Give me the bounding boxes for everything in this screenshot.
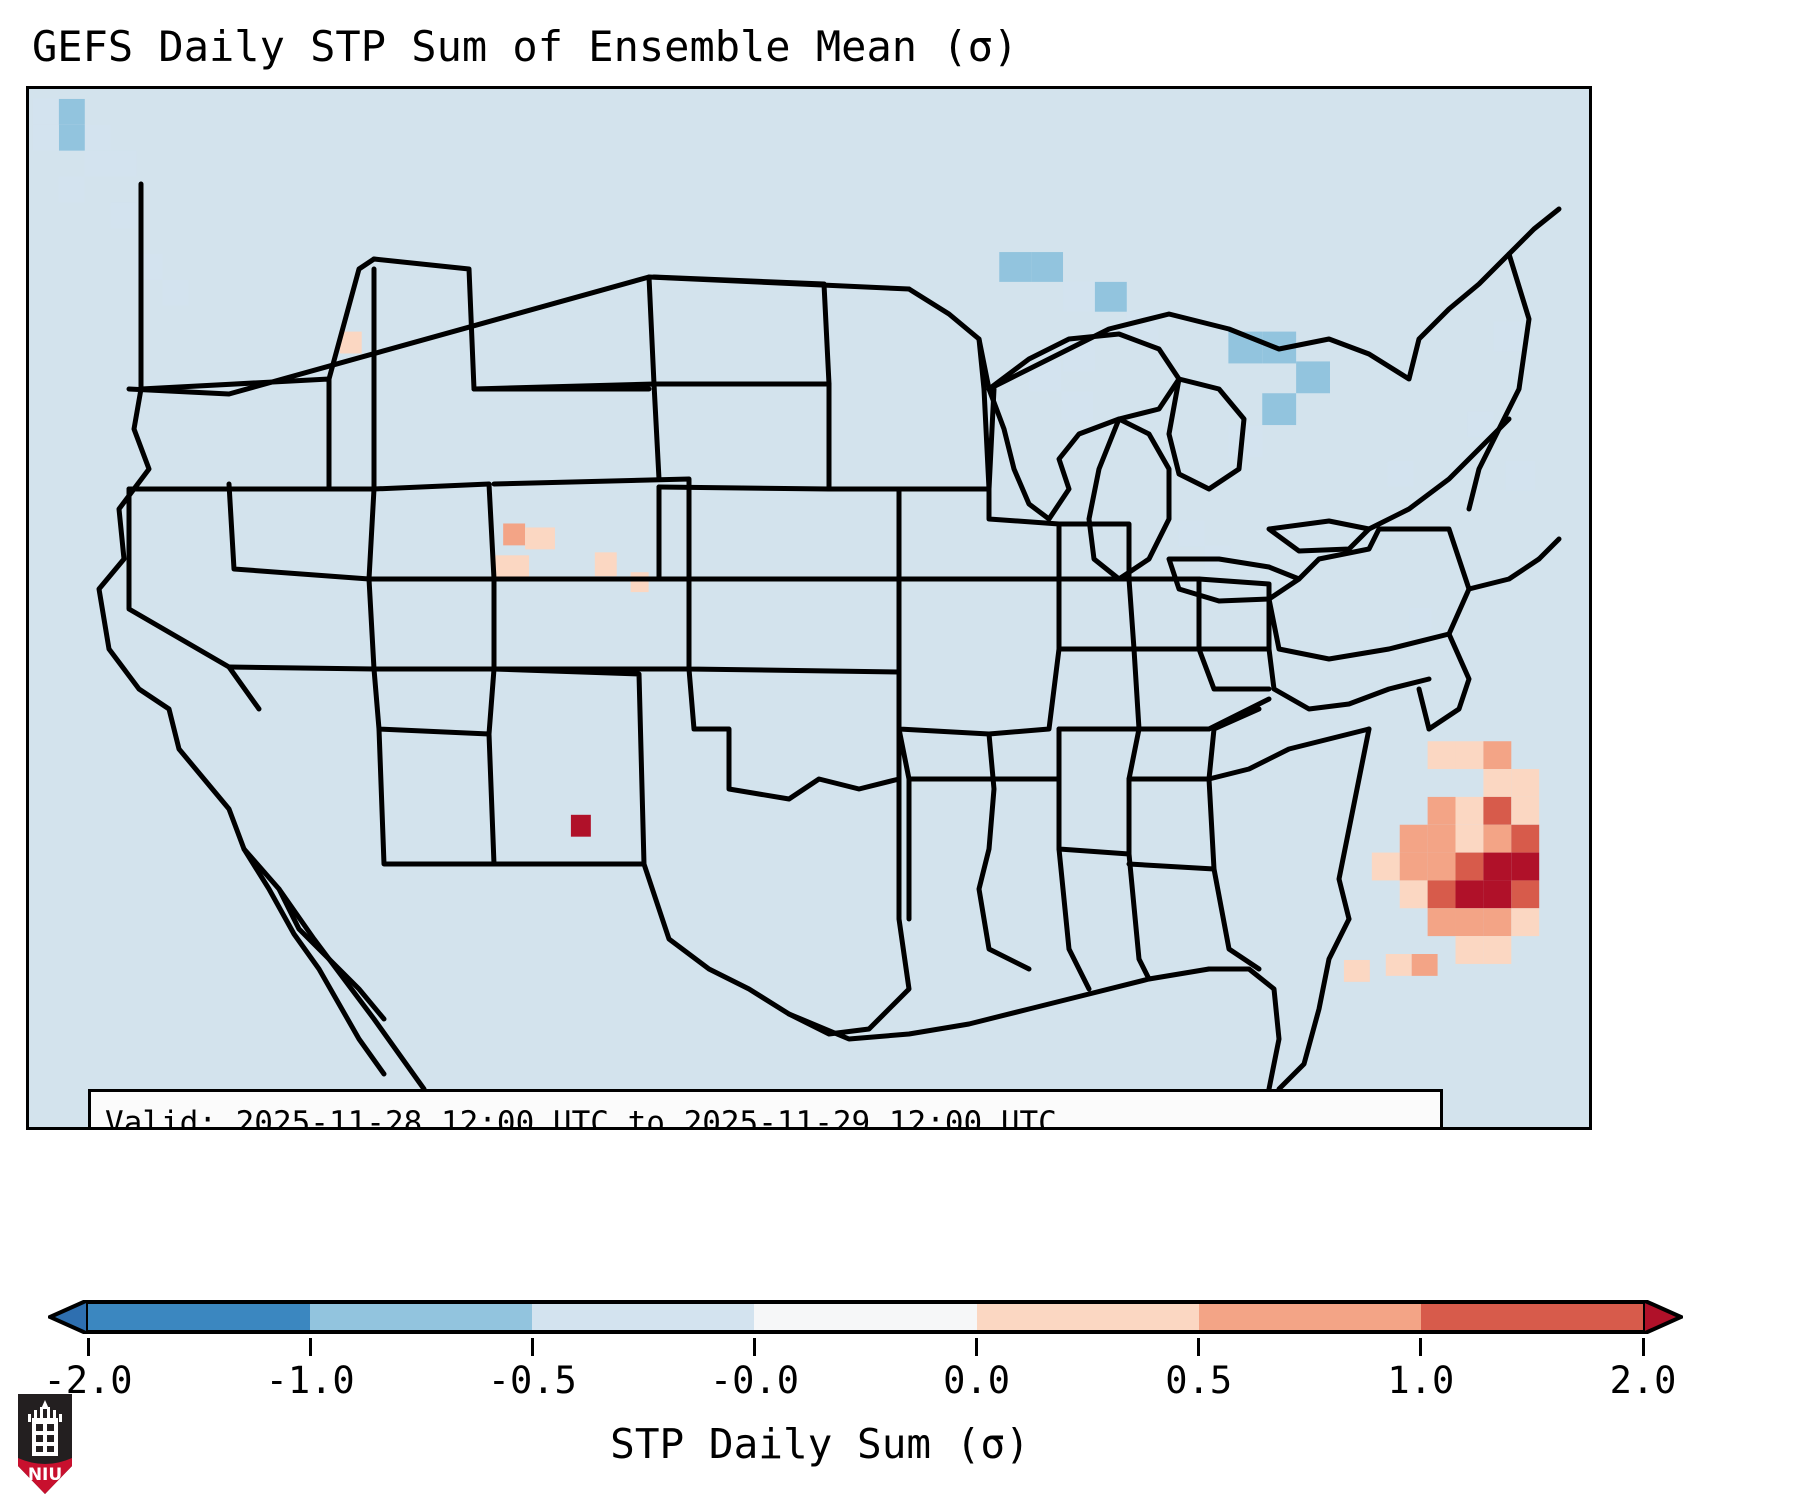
colorbar-tick-labels: -2.0-1.0-0.5-0.00.00.51.02.0: [0, 1358, 1803, 1408]
heatmap-cell: [1483, 741, 1511, 769]
heatmap-cell: [1511, 908, 1539, 936]
heatmap-cell: [59, 99, 85, 125]
heatmap-cell: [1061, 391, 1093, 421]
heatmap-cell: [1428, 853, 1456, 881]
colorbar-tick-4: [975, 1338, 978, 1356]
colorbar-segment-0: [88, 1304, 310, 1330]
colorbar-tick-label-7: 2.0: [1610, 1358, 1677, 1404]
colorbar-tick-5: [1197, 1338, 1200, 1356]
map-panel: Valid: 2025-11-28 12:00 UTC to 2025-11-2…: [26, 86, 1592, 1130]
heatmap-cell: [1456, 825, 1484, 853]
colorbar-tick-label-1: -1.0: [266, 1358, 355, 1404]
colorbar-tick-6: [1419, 1338, 1422, 1356]
colorbar-segment-2: [532, 1304, 754, 1330]
heatmap-cell: [1511, 797, 1539, 825]
heatmap-cell: [1456, 741, 1484, 769]
heatmap-cell: [1262, 393, 1296, 425]
colorbar-tick-label-2: -0.5: [488, 1358, 577, 1404]
heatmap-cell: [33, 125, 59, 151]
heatmap-cell: [1456, 880, 1484, 908]
heatmap-cell: [1428, 825, 1456, 853]
heatmap-cell: [1483, 853, 1511, 881]
heatmap-cell: [111, 202, 137, 228]
heatmap-cell: [1386, 954, 1412, 976]
heatmap-cell: [595, 552, 617, 576]
heatmap-cell: [631, 572, 649, 592]
heatmap-cell: [1493, 322, 1523, 352]
map-canvas: [29, 89, 1589, 1127]
heatmap-cell: [1063, 282, 1095, 312]
heatmap-cell: [1456, 908, 1484, 936]
heatmap-cell: [1428, 908, 1456, 936]
logo-text: NIU: [28, 1465, 62, 1485]
heatmap-cell: [571, 815, 591, 837]
heatmap-cell: [495, 555, 529, 579]
heatmap-cell: [1483, 825, 1511, 853]
heatmap-cell: [1511, 853, 1539, 881]
heatmap-cell: [111, 151, 137, 177]
heatmap-cell: [85, 125, 111, 151]
info-box: Valid: 2025-11-28 12:00 UTC to 2025-11-2…: [88, 1089, 1443, 1130]
colorbar-ticks: [0, 1338, 1803, 1360]
heatmap-cell: [1372, 853, 1400, 881]
colorbar-tick-label-6: 1.0: [1387, 1358, 1454, 1404]
heatmap-cell: [59, 176, 85, 202]
heatmap-cell: [1456, 797, 1484, 825]
heatmap-cell: [1511, 880, 1539, 908]
colorbar-segment-1: [310, 1304, 532, 1330]
heatmap-cell: [1483, 769, 1511, 797]
colorbar-under-arrow: [48, 1300, 88, 1334]
colorbar-tick-2: [531, 1338, 534, 1356]
heatmap-cell: [1410, 608, 1432, 630]
heatmap-cell: [33, 99, 59, 125]
heatmap-cell: [1344, 960, 1370, 982]
colorbar-tick-label-3: -0.0: [710, 1358, 799, 1404]
heatmap-cell: [1031, 252, 1063, 282]
heatmap-cell: [1400, 825, 1428, 853]
heatmap-cell: [1095, 282, 1127, 312]
colorbar-tick-label-5: 0.5: [1165, 1358, 1232, 1404]
colorbar: [26, 1296, 1666, 1340]
page-title: GEFS Daily STP Sum of Ensemble Mean (σ): [32, 18, 1532, 76]
heatmap-cell: [1428, 880, 1456, 908]
colorbar-segment-5: [1199, 1304, 1421, 1330]
colorbar-over-arrow: [1643, 1300, 1683, 1334]
heatmap-cell: [1400, 853, 1428, 881]
heatmap-cell: [1511, 825, 1539, 853]
heatmap-cell: [1428, 741, 1456, 769]
heatmap-cell: [1505, 461, 1535, 491]
heatmap-cell: [162, 280, 188, 306]
colorbar-segment-6: [1421, 1304, 1643, 1330]
heatmap-cell: [503, 523, 525, 545]
colorbar-tick-0: [87, 1338, 90, 1356]
niu-logo: NIU: [14, 1392, 76, 1496]
heatmap-cell: [1456, 936, 1484, 964]
heatmap-cell: [1179, 521, 1205, 547]
colorbar-segment-3: [754, 1304, 976, 1330]
heatmap-cell: [85, 151, 111, 177]
heatmap-cell: [1456, 853, 1484, 881]
heatmap-cell: [1511, 769, 1539, 797]
heatmap-cell: [1412, 954, 1438, 976]
colorbar-axis-label: STP Daily Sum (σ): [0, 1418, 1640, 1470]
heatmap-cell: [1296, 361, 1330, 393]
heatmap-cell: [59, 125, 85, 151]
heatmap-cell: [1483, 936, 1511, 964]
colorbar-segment-4: [977, 1304, 1199, 1330]
info-valid-line: Valid: 2025-11-28 12:00 UTC to 2025-11-2…: [105, 1100, 1426, 1130]
colorbar-tick-label-4: 0.0: [943, 1358, 1010, 1404]
colorbar-tick-1: [309, 1338, 312, 1356]
colorbar-tick-3: [753, 1338, 756, 1356]
colorbar-gradient: [88, 1300, 1643, 1334]
heatmap-cell: [1467, 411, 1493, 437]
heatmap-cell: [1483, 880, 1511, 908]
heatmap-cell: [1400, 880, 1428, 908]
heatmap-cell: [1388, 461, 1414, 487]
colorbar-tick-7: [1642, 1338, 1645, 1356]
heatmap-cell: [1428, 797, 1456, 825]
heatmap-cell: [1483, 908, 1511, 936]
heatmap-cell: [1483, 797, 1511, 825]
heatmap-cell: [999, 252, 1031, 282]
heatmap-cell: [525, 527, 555, 549]
